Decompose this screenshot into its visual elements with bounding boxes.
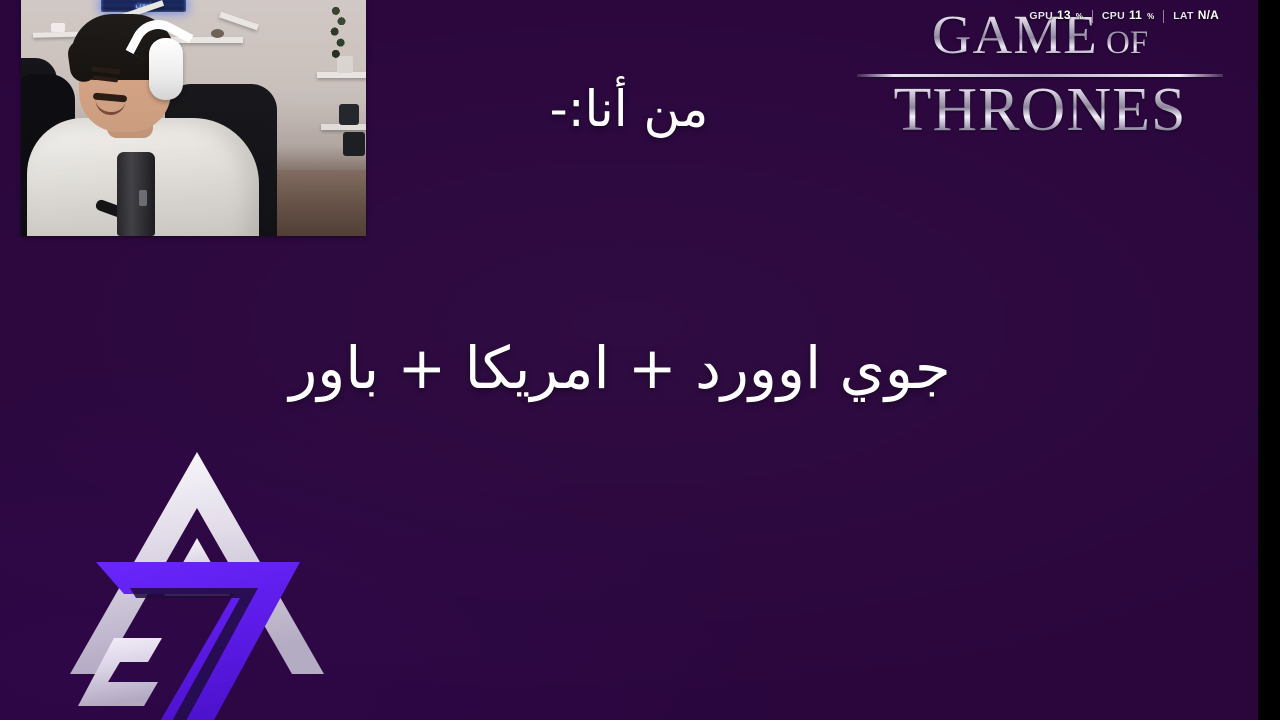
perf-stat-lat: LAT N/A — [1164, 9, 1228, 23]
microphone-icon — [117, 152, 155, 236]
brand-logo-svg — [62, 442, 332, 720]
perf-cpu-unit: % — [1147, 10, 1154, 23]
brand-logo — [62, 442, 332, 720]
performance-overlay: GPU 13 % CPU 11 % LAT N/A — [1020, 9, 1228, 23]
got-word-of: OF — [1098, 25, 1148, 61]
perf-stat-cpu: CPU 11 % — [1093, 9, 1163, 23]
perf-lat-label: LAT — [1173, 10, 1194, 23]
perf-gpu-value: 13 — [1057, 9, 1071, 22]
shelf-object — [51, 23, 65, 32]
slide-body-text: جوي اوورد + امريكا + باور — [0, 320, 1240, 416]
perf-cpu-label: CPU — [1102, 10, 1125, 23]
slide-heading: من أنا:- — [0, 68, 1258, 150]
presentation-slide: نيون — [0, 0, 1258, 720]
plant-decoration — [327, 2, 349, 76]
perf-gpu-unit: % — [1076, 10, 1083, 23]
shelf-object — [211, 29, 224, 38]
perf-gpu-label: GPU — [1029, 10, 1053, 23]
letterbox-bar-right — [1258, 0, 1280, 720]
perf-stat-gpu: GPU 13 % — [1020, 9, 1092, 23]
microphone-button — [139, 190, 147, 206]
stream-screenshot: نيون — [0, 0, 1280, 720]
got-word-game: G — [932, 4, 973, 65]
perf-lat-value: N/A — [1198, 9, 1219, 22]
perf-cpu-value: 11 — [1129, 9, 1142, 22]
